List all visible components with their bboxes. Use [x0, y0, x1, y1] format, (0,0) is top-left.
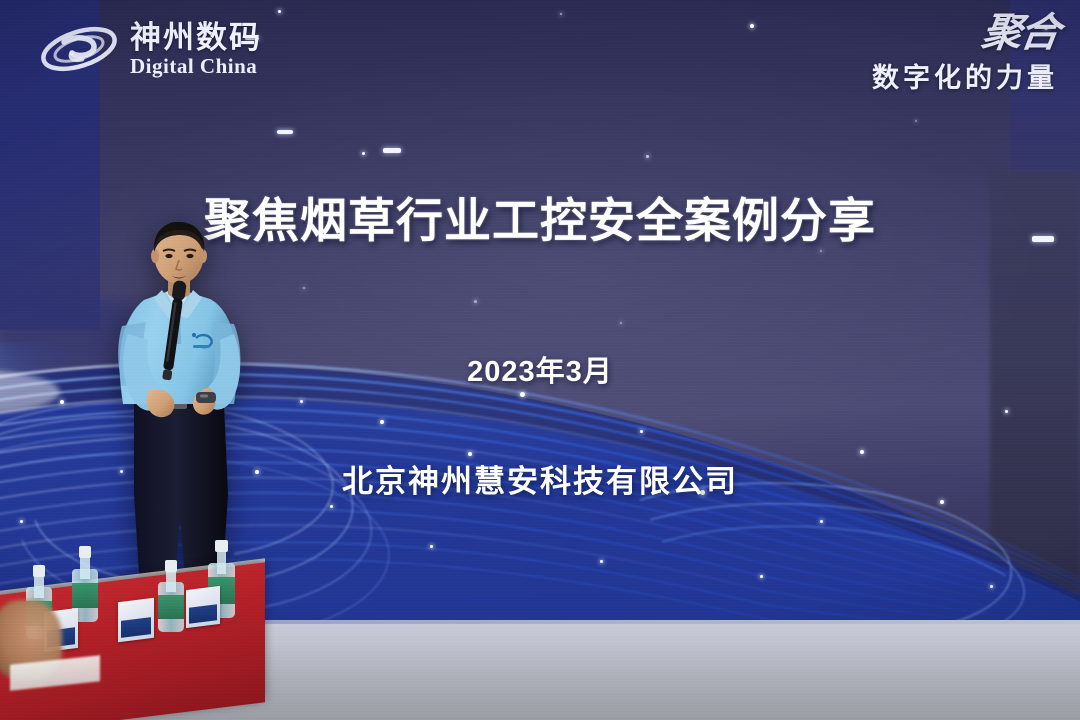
galaxy-swirl-icon [38, 18, 120, 80]
slogan-calligraphy: 聚合 [979, 14, 1060, 52]
name-card [118, 598, 154, 642]
water-bottle [158, 560, 184, 632]
digital-china-logo: 神州数码 Digital China [38, 18, 262, 80]
logo-name-en: Digital China [130, 56, 262, 77]
slogan-subtitle: 数字化的力量 [872, 56, 1058, 95]
name-card [186, 586, 220, 628]
logo-name-cn: 神州数码 [130, 22, 262, 53]
event-slogan: 聚合 数字化的力量 [872, 14, 1058, 95]
conference-photo-scene: 神州数码 Digital China 聚合 数字化的力量 聚焦烟草行业工控安全案… [0, 0, 1080, 720]
